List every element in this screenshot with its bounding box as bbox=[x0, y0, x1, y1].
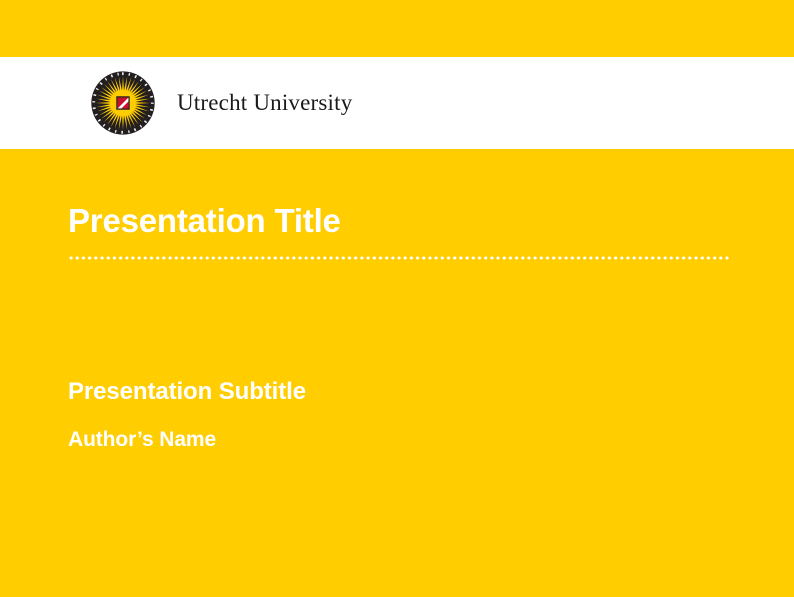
university-wordmark: Utrecht University bbox=[177, 91, 352, 116]
university-logo[interactable]: Utrecht University bbox=[91, 71, 352, 135]
title-dotted-divider bbox=[68, 256, 730, 260]
logo-band: Utrecht University bbox=[0, 57, 794, 149]
author-name: Author’s Name bbox=[68, 428, 748, 452]
utrecht-university-sun-emblem-icon bbox=[91, 71, 155, 135]
page-subtitle: Presentation Subtitle bbox=[68, 378, 748, 406]
title-block: Presentation Title bbox=[68, 203, 748, 260]
presentation-title-slide: Utrecht University Presentation Title Pr… bbox=[0, 0, 794, 597]
page-title: Presentation Title bbox=[68, 203, 748, 240]
subtitle-block: Presentation Subtitle Author’s Name bbox=[68, 378, 748, 452]
